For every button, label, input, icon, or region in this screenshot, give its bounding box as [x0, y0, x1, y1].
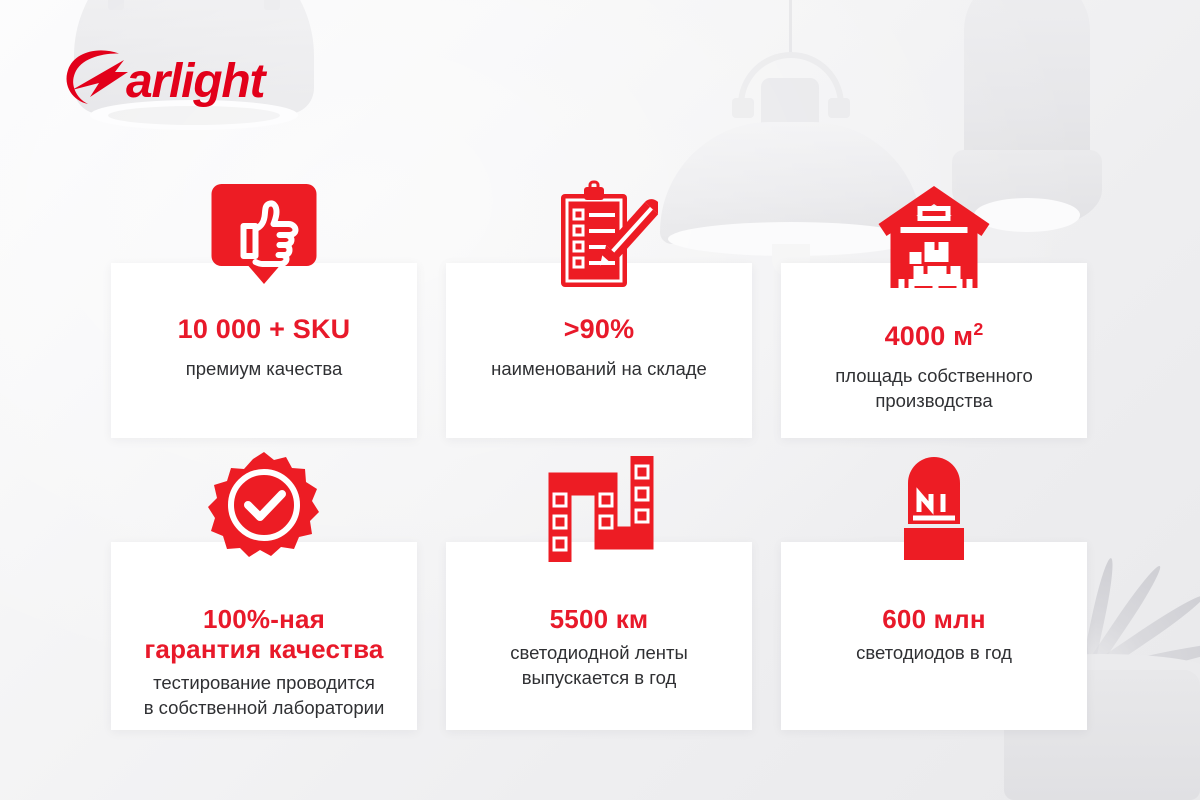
palm-frond [1081, 562, 1166, 679]
led-bulb-icon [883, 450, 985, 568]
led-strip-icon [538, 450, 660, 568]
clipboard-checklist-pencil-icon [540, 180, 658, 294]
stat-card-body: 100%-ная гарантия качества тестирование … [111, 604, 417, 720]
stat-label: светодиодов в год [791, 640, 1077, 665]
stats-grid: 10 000 + SKU премиум качества [111, 263, 1089, 730]
lamp-lug-left [732, 98, 754, 118]
stat-card-area: 4000 м2 площадь собственного производств… [781, 263, 1087, 438]
stat-card-body: 10 000 + SKU премиум качества [111, 313, 417, 381]
stat-value: 4000 м2 [791, 313, 1077, 353]
stat-card-tape: 5500 км светодиодной ленты выпускается в… [446, 542, 752, 730]
stat-card-body: 4000 м2 площадь собственного производств… [781, 313, 1087, 413]
stat-label: тестирование проводится в собственной ла… [121, 670, 407, 720]
stat-value-superscript: 2 [973, 319, 983, 339]
palm-frond [1085, 669, 1200, 700]
lamp-clip-right [264, 0, 280, 10]
stat-card-stock: >90% наименований на складе [446, 263, 752, 438]
lamp-clip-left [108, 0, 124, 10]
stats-row-top: 10 000 + SKU премиум качества [111, 263, 1089, 438]
arlight-logo: arlight [58, 45, 290, 107]
stat-value: 5500 км [456, 604, 742, 634]
palm-frond [1085, 638, 1200, 682]
stat-card-sku: 10 000 + SKU премиум качества [111, 263, 417, 438]
warehouse-icon [877, 180, 992, 292]
stat-label: светодиодной ленты выпускается в год [456, 640, 742, 690]
stat-value: 10 000 + SKU [121, 313, 407, 346]
stat-value: 100%-ная гарантия качества [121, 604, 407, 664]
stat-label: наименований на складе [456, 356, 742, 381]
stat-card-body: >90% наименований на складе [446, 313, 752, 381]
lamp-socket [761, 78, 819, 134]
lamp-cord [789, 0, 792, 56]
svg-text:arlight: arlight [126, 55, 267, 107]
lamp-lug-right [828, 98, 850, 118]
lamp-rim-inner [108, 106, 280, 125]
stat-value: 600 млн [791, 604, 1077, 634]
stat-card-body: 600 млн светодиодов в год [781, 604, 1087, 665]
quality-badge-check-icon [205, 450, 323, 568]
stat-value: >90% [456, 313, 742, 346]
stats-row-bottom: 100%-ная гарантия качества тестирование … [111, 542, 1089, 730]
stat-card-body: 5500 км светодиодной ленты выпускается в… [446, 604, 752, 690]
stat-card-leds: 600 млн светодиодов в год [781, 542, 1087, 730]
stat-label: премиум качества [121, 356, 407, 381]
palm-frond [1082, 591, 1200, 681]
thumbs-up-icon [208, 180, 321, 293]
stat-label: площадь собственного производства [791, 363, 1077, 413]
lamp-yoke [738, 52, 844, 114]
lamp-body [964, 0, 1090, 210]
infographic-page: arlight [0, 0, 1200, 800]
stat-card-warranty: 100%-ная гарантия качества тестирование … [111, 542, 417, 730]
stat-value-text: 4000 м [885, 321, 974, 351]
